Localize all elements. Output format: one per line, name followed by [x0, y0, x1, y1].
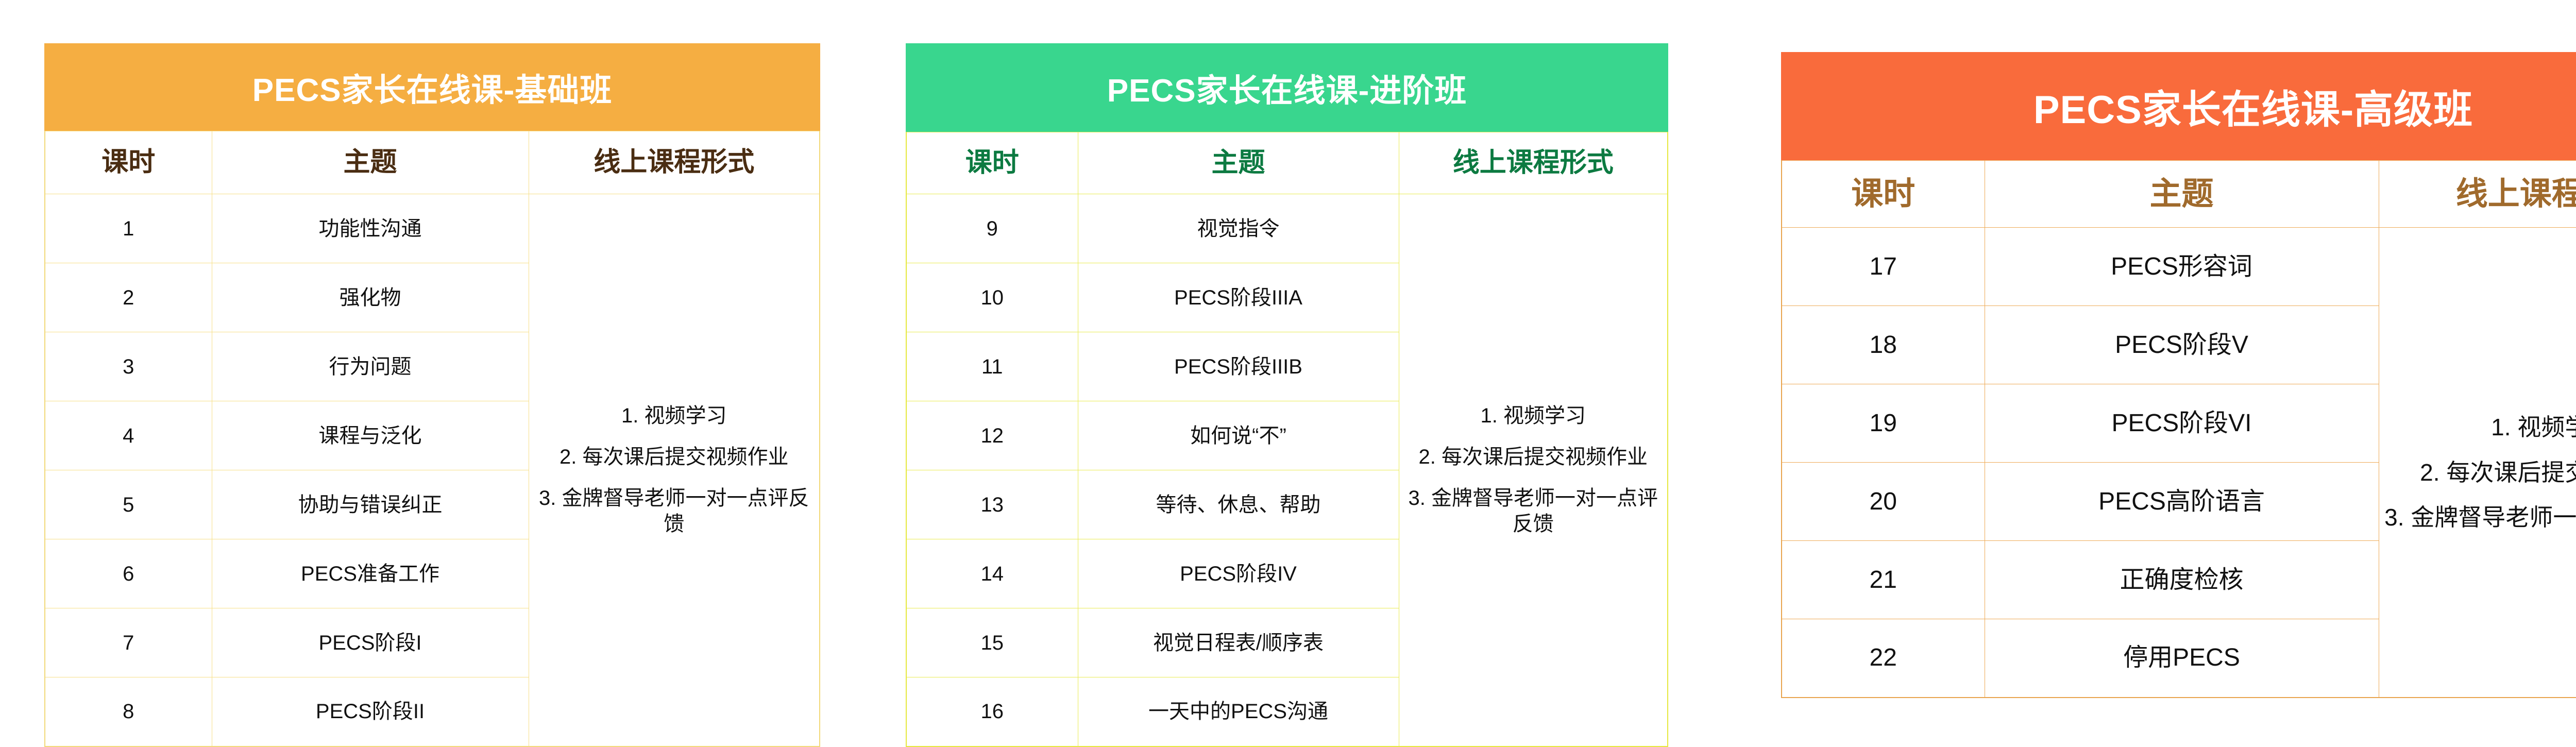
cell-lesson: 20 — [1782, 463, 1985, 541]
table-header-row: 课时 主题 线上课程形式 — [1782, 161, 2576, 228]
table-header-row: 课时 主题 线上课程形式 — [45, 131, 820, 194]
column-header-lesson: 课时 — [1782, 161, 1985, 228]
table-row: 1 功能性沟通 1. 视频学习 2. 每次课后提交视频作业 3. 金牌督导老师一… — [45, 194, 820, 263]
cell-topic: PECS形容词 — [1985, 228, 2379, 306]
cell-topic: PECS高阶语言 — [1985, 463, 2379, 541]
course-card-senior: PECS家长在线课-高级班 课时 主题 线上课程形式 17 PECS形容词 1.… — [1781, 52, 2576, 698]
cell-course-formats: 1. 视频学习 2. 每次课后提交视频作业 3. 金牌督导老师一对一点评反馈 — [2379, 228, 2576, 698]
cell-topic: 正确度检核 — [1985, 541, 2379, 619]
cell-topic: PECS阶段I — [212, 608, 529, 677]
format-line-3: 3. 金牌督导老师一对一点评反馈 — [1402, 485, 1665, 537]
format-line-1: 1. 视频学习 — [532, 403, 817, 429]
course-schedule-board: PECS家长在线课-基础班 课时 主题 线上课程形式 1 功能性沟通 1. 视频… — [0, 0, 2576, 744]
column-header-lesson: 课时 — [906, 132, 1078, 194]
cell-topic: 功能性沟通 — [212, 194, 529, 263]
cell-lesson: 16 — [906, 677, 1078, 746]
cell-topic: PECS阶段V — [1985, 306, 2379, 384]
cell-lesson: 3 — [45, 332, 212, 401]
cell-topic: 视觉日程表/顺序表 — [1078, 608, 1399, 677]
format-line-2: 2. 每次课后提交视频作业 — [2382, 458, 2576, 488]
cell-topic: 课程与泛化 — [212, 401, 529, 470]
cell-lesson: 10 — [906, 263, 1078, 332]
cell-lesson: 21 — [1782, 541, 1985, 619]
cell-topic: PECS阶段II — [212, 677, 529, 746]
cell-topic: 行为问题 — [212, 332, 529, 401]
format-line-1: 1. 视频学习 — [1402, 403, 1665, 429]
cell-topic: PECS阶段VI — [1985, 384, 2379, 463]
cell-topic: 等待、休息、帮助 — [1078, 470, 1399, 539]
cell-lesson: 12 — [906, 401, 1078, 470]
card-title-advanced: PECS家长在线课-进阶班 — [906, 43, 1668, 132]
cell-lesson: 14 — [906, 539, 1078, 608]
cell-lesson: 8 — [45, 677, 212, 746]
cell-lesson: 1 — [45, 194, 212, 263]
cell-lesson: 18 — [1782, 306, 1985, 384]
column-header-format: 线上课程形式 — [1399, 132, 1668, 194]
schedule-table-senior: 课时 主题 线上课程形式 17 PECS形容词 1. 视频学习 2. 每次课后提… — [1781, 160, 2576, 698]
table-row: 9 视觉指令 1. 视频学习 2. 每次课后提交视频作业 3. 金牌督导老师一对… — [906, 194, 1668, 263]
card-title-basic: PECS家长在线课-基础班 — [44, 43, 820, 131]
schedule-table-advanced: 课时 主题 线上课程形式 9 视觉指令 1. 视频学习 2. 每次课后提交视频作… — [906, 132, 1668, 747]
column-header-lesson: 课时 — [45, 131, 212, 194]
table-row: 17 PECS形容词 1. 视频学习 2. 每次课后提交视频作业 3. 金牌督导… — [1782, 228, 2576, 306]
format-line-3: 3. 金牌督导老师一对一点评反馈 — [2382, 503, 2576, 533]
cell-lesson: 11 — [906, 332, 1078, 401]
cell-lesson: 15 — [906, 608, 1078, 677]
column-header-topic: 主题 — [1078, 132, 1399, 194]
course-card-basic: PECS家长在线课-基础班 课时 主题 线上课程形式 1 功能性沟通 1. 视频… — [44, 43, 820, 747]
table-header-row: 课时 主题 线上课程形式 — [906, 132, 1668, 194]
course-card-advanced: PECS家长在线课-进阶班 课时 主题 线上课程形式 9 视觉指令 1. 视频学… — [906, 43, 1668, 747]
cell-lesson: 19 — [1782, 384, 1985, 463]
cell-topic: 一天中的PECS沟通 — [1078, 677, 1399, 746]
cell-topic: PECS阶段IIIB — [1078, 332, 1399, 401]
cell-lesson: 2 — [45, 263, 212, 332]
cell-course-formats: 1. 视频学习 2. 每次课后提交视频作业 3. 金牌督导老师一对一点评反馈 — [529, 194, 820, 746]
cell-topic: 视觉指令 — [1078, 194, 1399, 263]
format-line-2: 2. 每次课后提交视频作业 — [532, 444, 817, 470]
cell-lesson: 13 — [906, 470, 1078, 539]
cell-lesson: 7 — [45, 608, 212, 677]
column-header-format: 线上课程形式 — [529, 131, 820, 194]
cell-lesson: 17 — [1782, 228, 1985, 306]
cell-topic: PECS准备工作 — [212, 539, 529, 608]
column-header-format: 线上课程形式 — [2379, 161, 2576, 228]
cell-topic: 强化物 — [212, 263, 529, 332]
format-line-3: 3. 金牌督导老师一对一点评反馈 — [532, 485, 817, 537]
cell-topic: 协助与错误纠正 — [212, 470, 529, 539]
column-header-topic: 主题 — [212, 131, 529, 194]
format-line-1: 1. 视频学习 — [2382, 413, 2576, 443]
cell-lesson: 6 — [45, 539, 212, 608]
cell-lesson: 4 — [45, 401, 212, 470]
cell-topic: PECS阶段IIIA — [1078, 263, 1399, 332]
schedule-table-basic: 课时 主题 线上课程形式 1 功能性沟通 1. 视频学习 2. 每次课后提交视频… — [44, 131, 820, 747]
cell-lesson: 9 — [906, 194, 1078, 263]
cell-topic: 如何说“不” — [1078, 401, 1399, 470]
cell-topic: 停用PECS — [1985, 619, 2379, 698]
cell-course-formats: 1. 视频学习 2. 每次课后提交视频作业 3. 金牌督导老师一对一点评反馈 — [1399, 194, 1668, 746]
cell-topic: PECS阶段IV — [1078, 539, 1399, 608]
cell-lesson: 5 — [45, 470, 212, 539]
card-title-senior: PECS家长在线课-高级班 — [1781, 52, 2576, 160]
cell-lesson: 22 — [1782, 619, 1985, 698]
format-line-2: 2. 每次课后提交视频作业 — [1402, 444, 1665, 470]
column-header-topic: 主题 — [1985, 161, 2379, 228]
